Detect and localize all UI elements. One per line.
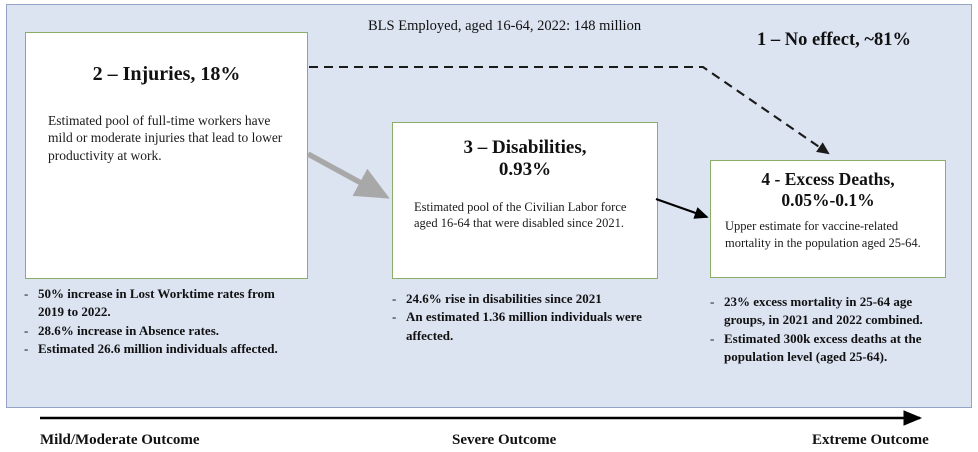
node-title-injuries: 2 – Injuries, 18% (26, 63, 307, 87)
bullet-list-excess-deaths: -23% excess mortality in 25-64 age group… (710, 293, 942, 367)
node-title-disabilities-line1: 3 – Disabilities, (393, 137, 657, 159)
bullet-marker: - (710, 293, 724, 311)
node-box-disabilities: 3 – Disabilities, 0.93% Estimated pool o… (392, 122, 658, 279)
node-body-excess-deaths: Upper estimate for vaccine-related morta… (725, 218, 933, 251)
bullet-item: -28.6% increase in Absence rates. (24, 322, 299, 340)
node-title-disabilities-line2: 0.93% (393, 159, 657, 181)
bullet-list-injuries: -50% increase in Lost Worktime rates fro… (24, 285, 299, 359)
bullet-item: -23% excess mortality in 25-64 age group… (710, 293, 942, 330)
node-body-disabilities: Estimated pool of the Civilian Labor for… (414, 199, 639, 232)
axis-label-extreme: Extreme Outcome (812, 432, 929, 449)
node-body-injuries: Estimated pool of full-time workers have… (48, 112, 285, 165)
bullet-marker: - (24, 340, 38, 358)
bullet-item: -An estimated 1.36 million individuals w… (392, 308, 652, 345)
bullet-text: Estimated 26.6 million individuals affec… (38, 340, 299, 358)
bls-employed-label: BLS Employed, aged 16-64, 2022: 148 mill… (368, 18, 641, 35)
bullet-marker: - (392, 308, 406, 326)
node-title-excess-deaths: 4 - Excess Deaths, 0.05%-0.1% (711, 169, 945, 210)
bullet-text: Estimated 300k excess deaths at the popu… (724, 330, 942, 367)
bullet-text: 24.6% rise in disabilities since 2021 (406, 290, 652, 308)
node-title-excess-deaths-line1: 4 - Excess Deaths, (711, 169, 945, 190)
bullet-text: 23% excess mortality in 25-64 age groups… (724, 293, 942, 330)
axis-label-severe: Severe Outcome (452, 432, 556, 449)
severity-axis (0, 404, 978, 430)
bullet-marker: - (24, 322, 38, 340)
bullet-text: 50% increase in Lost Worktime rates from… (38, 285, 299, 322)
axis-label-mild-moderate: Mild/Moderate Outcome (40, 432, 200, 449)
bullet-item: -Estimated 26.6 million individuals affe… (24, 340, 299, 358)
node-box-excess-deaths: 4 - Excess Deaths, 0.05%-0.1% Upper esti… (710, 160, 946, 278)
bullet-item: -50% increase in Lost Worktime rates fro… (24, 285, 299, 322)
node-title-excess-deaths-line2: 0.05%-0.1% (711, 190, 945, 211)
bullet-text: An estimated 1.36 million individuals we… (406, 308, 652, 345)
bullet-text: 28.6% increase in Absence rates. (38, 322, 299, 340)
bullet-marker: - (392, 290, 406, 308)
node-box-injuries: 2 – Injuries, 18% Estimated pool of full… (25, 32, 308, 279)
bullet-list-disabilities: -24.6% rise in disabilities since 2021-A… (392, 290, 652, 345)
bullet-item: -Estimated 300k excess deaths at the pop… (710, 330, 942, 367)
diagram-canvas: BLS Employed, aged 16-64, 2022: 148 mill… (0, 0, 978, 452)
bullet-marker: - (710, 330, 724, 348)
bullet-marker: - (24, 285, 38, 303)
no-effect-label: 1 – No effect, ~81% (757, 30, 911, 51)
node-title-disabilities: 3 – Disabilities, 0.93% (393, 137, 657, 182)
bullet-item: -24.6% rise in disabilities since 2021 (392, 290, 652, 308)
